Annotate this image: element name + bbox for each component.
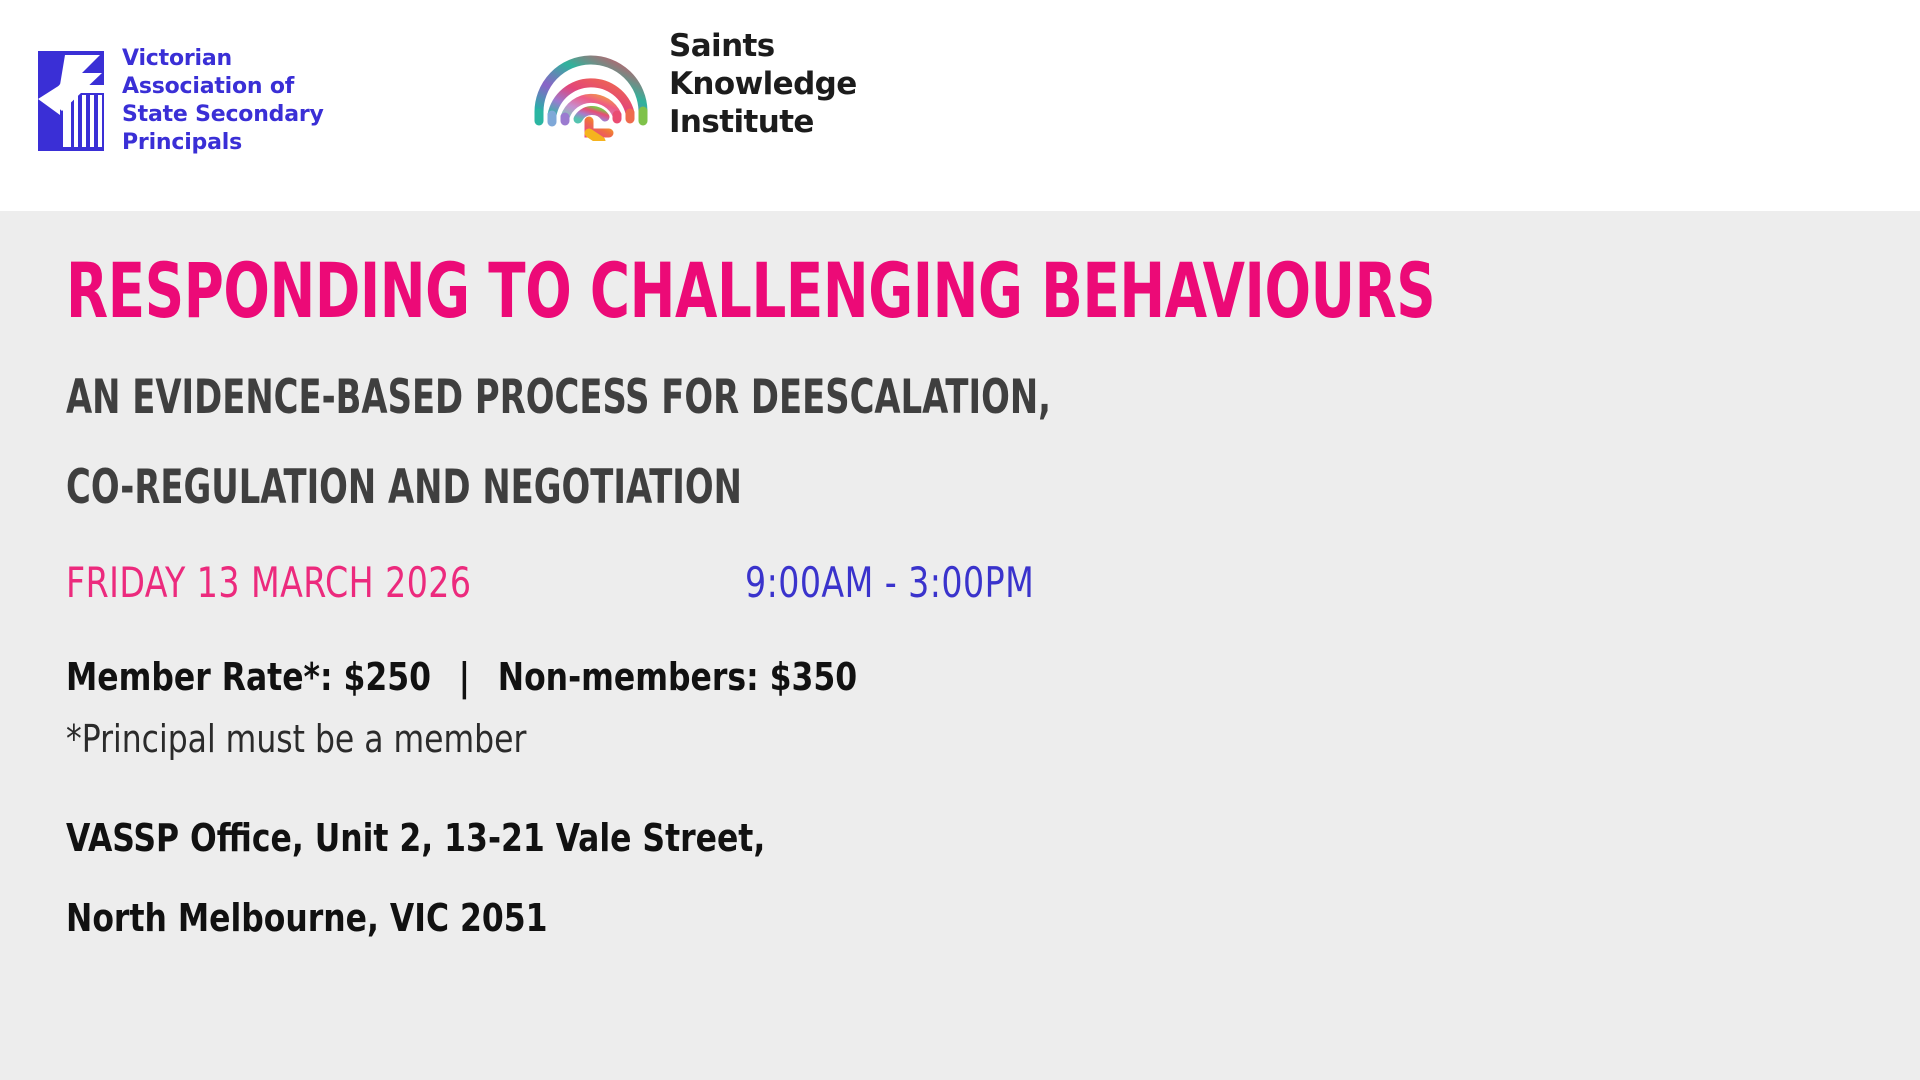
pricing-separator: |	[431, 655, 498, 699]
vassp-column-mark-icon	[38, 51, 104, 151]
vassp-logo-line-1: Victorian	[122, 45, 324, 73]
vassp-logo-line-4: Principals	[122, 129, 324, 157]
saints-logo-line-2: Knowledge	[669, 66, 857, 104]
page-title: RESPONDING TO CHALLENGING BEHAVIOURS	[66, 253, 1498, 329]
saints-logo-text: Saints Knowledge Institute	[669, 28, 857, 141]
vassp-logo-text: Victorian Association of State Secondary…	[122, 45, 324, 158]
member-rate: Member Rate*: $250	[66, 655, 431, 699]
flyer-content: RESPONDING TO CHALLENGING BEHAVIOURS AN …	[66, 211, 1856, 937]
vassp-logo-line-3: State Secondary	[122, 101, 324, 129]
membership-footnote: *Principal must be a member	[66, 720, 1713, 758]
saints-logo-line-1: Saints	[669, 28, 857, 66]
brain-fingerprint-icon	[527, 29, 655, 141]
flyer-page: Victorian Association of State Secondary…	[0, 0, 1920, 1080]
venue-address-line-2: North Melbourne, VIC 2051	[66, 899, 1713, 937]
subtitle-line-2: CO-REGULATION AND NEGOTIATION	[66, 464, 1498, 511]
saints-knowledge-institute-logo: Saints Knowledge Institute	[527, 28, 857, 141]
venue-address-line-1: VASSP Office, Unit 2, 13-21 Vale Street,	[66, 819, 1713, 857]
event-time: 9:00AM - 3:00PM	[745, 562, 1034, 604]
event-date: FRIDAY 13 MARCH 2026	[66, 562, 471, 604]
non-member-rate: Non-members: $350	[498, 655, 857, 699]
pricing-row: Member Rate*: $250|Non-members: $350	[66, 658, 1713, 696]
saints-logo-line-3: Institute	[669, 104, 857, 142]
event-datetime-row: FRIDAY 13 MARCH 2026 9:00AM - 3:00PM	[66, 562, 1856, 604]
vassp-logo-line-2: Association of	[122, 73, 324, 101]
vassp-logo: Victorian Association of State Secondary…	[38, 45, 324, 158]
header-bar: Victorian Association of State Secondary…	[0, 0, 1920, 211]
subtitle-line-1: AN EVIDENCE-BASED PROCESS FOR DEESCALATI…	[66, 374, 1498, 421]
